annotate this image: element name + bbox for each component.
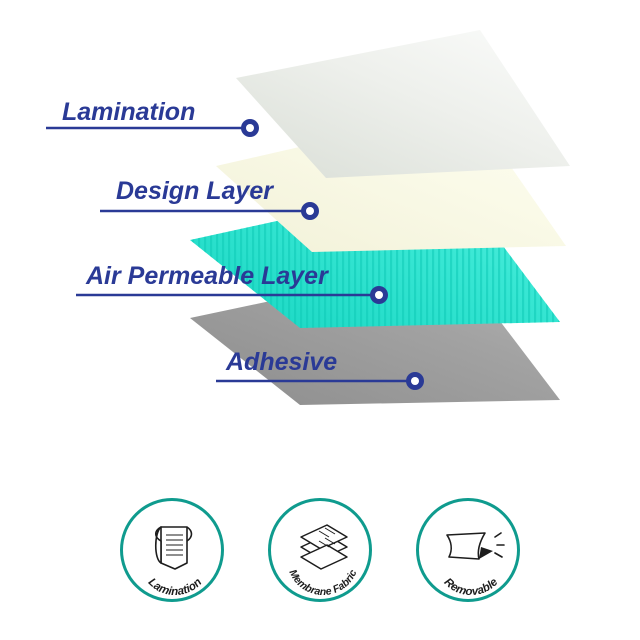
membrane-fabric-icon bbox=[301, 525, 347, 569]
feature-label-membrane-fabric: Membrane Fabric bbox=[286, 568, 359, 598]
feature-badge-lamination: Lamination bbox=[120, 498, 224, 602]
feature-badge-membrane-fabric: Membrane Fabric bbox=[268, 498, 372, 602]
removable-peel-icon bbox=[447, 533, 504, 559]
feature-badges: Lamination Membrane bbox=[0, 488, 640, 628]
feature-label-removable: Removable bbox=[442, 576, 501, 598]
layer-stack bbox=[0, 0, 640, 470]
feature-badge-removable: Removable bbox=[416, 498, 520, 602]
layered-material-diagram: Lamination Design Layer Air Permeable La… bbox=[0, 0, 640, 640]
feature-label-lamination: Lamination bbox=[146, 576, 205, 598]
lamination-roll-icon bbox=[156, 527, 192, 569]
